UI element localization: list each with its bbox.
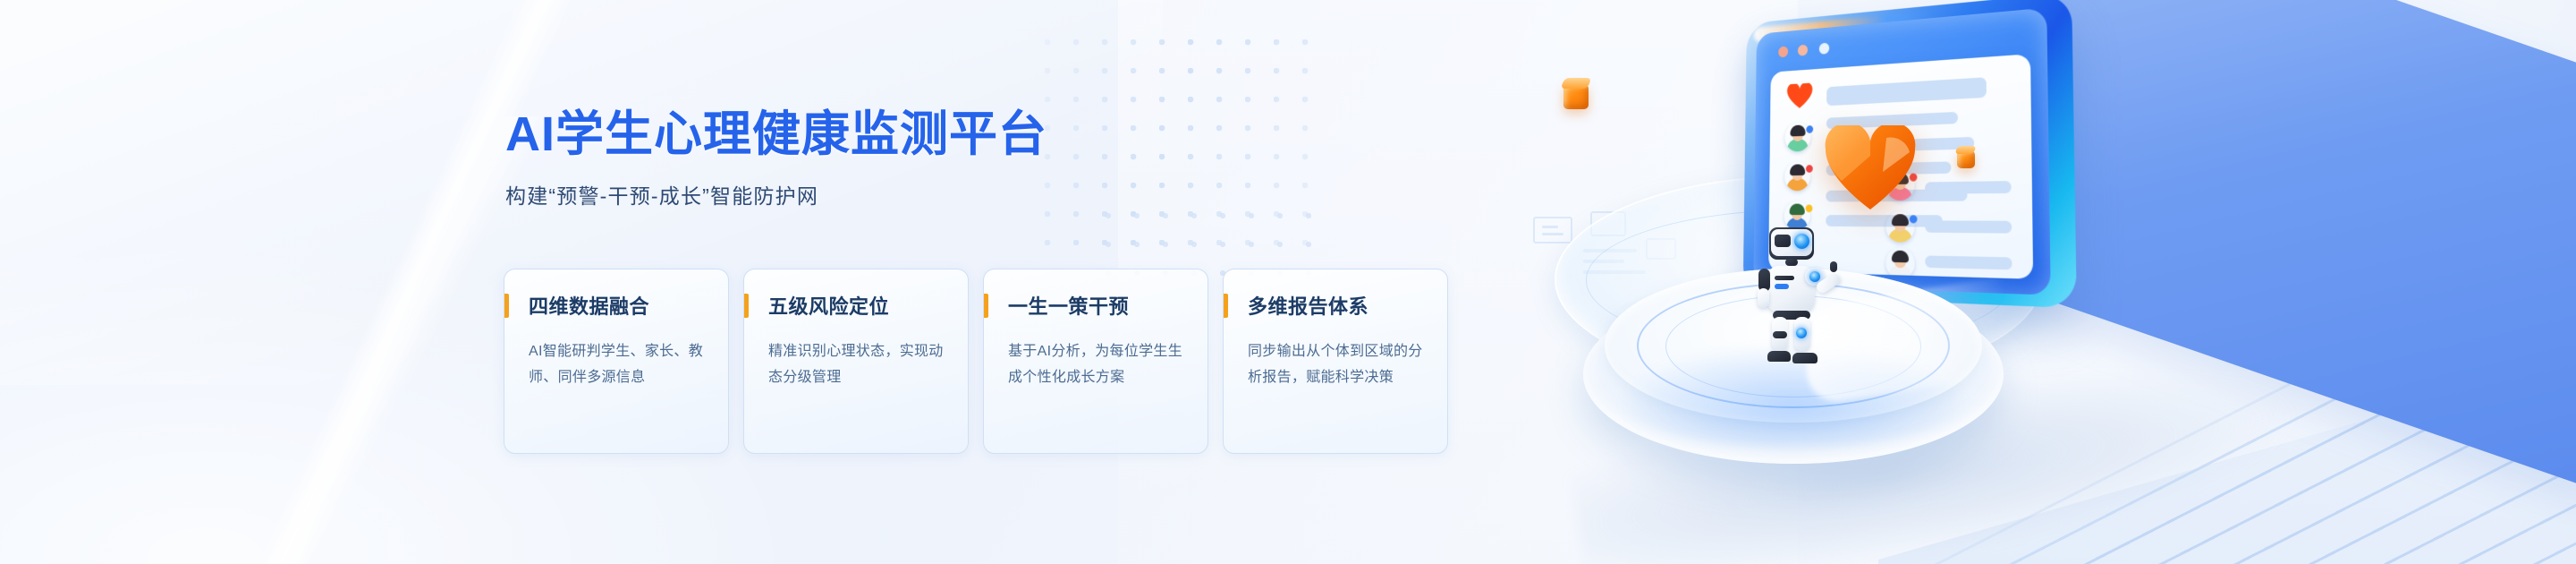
feature-card[interactable]: 一生一策干预 基于AI分析，为每位学生生成个性化成长方案 xyxy=(983,269,1208,454)
feature-card-title: 多维报告体系 xyxy=(1248,295,1426,320)
orange-cube-icon xyxy=(1957,150,1975,168)
accent-bar xyxy=(504,294,509,318)
hero-illustration xyxy=(1512,0,2191,564)
avatar xyxy=(1885,248,1914,279)
content-row xyxy=(1826,77,1987,106)
banner-content: AI学生心理健康监测平台 构建“预警-干预-成长”智能防护网 四维数据融合 AI… xyxy=(505,0,1453,564)
accent-bar xyxy=(984,294,988,318)
page-title: AI学生心理健康监测平台 xyxy=(505,94,1047,165)
gem-heart-icon xyxy=(1824,125,1917,211)
feature-card-desc: 基于AI分析，为每位学生生成个性化成长方案 xyxy=(1008,338,1186,390)
feature-card-title: 五级风险定位 xyxy=(768,295,946,320)
feature-card-title: 一生一策干预 xyxy=(1008,295,1186,320)
feature-card[interactable]: 五级风险定位 精准识别心理状态，实现动态分级管理 xyxy=(743,269,969,454)
feature-card-desc: 精准识别心理状态，实现动态分级管理 xyxy=(768,338,946,390)
feature-card-desc: 同步输出从个体到区域的分析报告，赋能科学决策 xyxy=(1248,338,1426,390)
traffic-dot-red-icon xyxy=(1778,46,1788,57)
feature-card-title: 四维数据融合 xyxy=(529,295,707,320)
status-badge xyxy=(1910,215,1918,223)
traffic-dot-white-icon xyxy=(1819,43,1829,55)
feature-card-list: 四维数据融合 AI智能研判学生、家长、教师、同伴多源信息 五级风险定位 精准识别… xyxy=(504,269,1448,454)
traffic-dot-orange-icon xyxy=(1798,45,1808,56)
status-badge xyxy=(1806,165,1813,173)
feature-card-desc: AI智能研判学生、家长、教师、同伴多源信息 xyxy=(529,338,707,390)
accent-bar xyxy=(744,294,749,318)
feature-card[interactable]: 多维报告体系 同步输出从个体到区域的分析报告，赋能科学决策 xyxy=(1223,269,1448,454)
feature-card[interactable]: 四维数据融合 AI智能研判学生、家长、教师、同伴多源信息 xyxy=(504,269,729,454)
heart-icon xyxy=(1787,83,1813,110)
page-subtitle: 构建“预警-干预-成长”智能防护网 xyxy=(505,179,818,209)
content-row xyxy=(1826,215,1943,227)
banner-stage: AI学生心理健康监测平台 构建“预警-干预-成长”智能防护网 四维数据融合 AI… xyxy=(0,0,2576,564)
orange-cube-icon xyxy=(1563,84,1589,109)
content-row xyxy=(1925,255,2012,269)
accent-bar xyxy=(1224,294,1228,318)
robot-figure-icon xyxy=(1742,227,1841,380)
content-row xyxy=(1925,181,2012,194)
status-badge xyxy=(1806,125,1813,133)
content-row xyxy=(1925,220,2012,233)
status-badge xyxy=(1806,204,1813,212)
